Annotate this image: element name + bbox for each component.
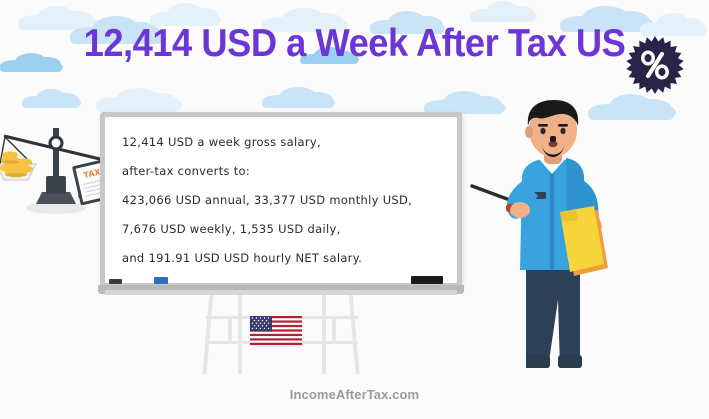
whiteboard-surface: 12,414 USD a week gross salary, after-ta… (105, 117, 457, 283)
percent-badge-icon (626, 36, 684, 94)
cloud-shape (470, 0, 536, 22)
marker-black-icon (109, 279, 122, 284)
board-text-line-5: and 191.91 USD USD hourly NET salary. (122, 251, 362, 265)
stand-brace-left (228, 318, 232, 344)
site-footer-label: IncomeAfterTax.com (0, 387, 709, 402)
board-text-line-3: 423,066 USD annual, 33,377 USD monthly U… (122, 193, 412, 207)
whiteboard-tray-lip (105, 290, 457, 295)
cloud-shape (22, 88, 80, 108)
whiteboard: 12,414 USD a week gross salary, after-ta… (100, 112, 462, 297)
stand-leg-left (238, 292, 242, 374)
whiteboard-frame: 12,414 USD a week gross salary, after-ta… (100, 112, 462, 288)
board-text-line-1: 12,414 USD a week gross salary, (122, 135, 321, 149)
infographic-canvas: 12,414 USD a Week After Tax US (0, 0, 709, 419)
stand-leg-right-outer (348, 292, 359, 374)
teacher-character-illustration (468, 100, 654, 375)
stand-brace-right (332, 318, 336, 344)
board-text-line-4: 7,676 USD weekly, 1,535 USD daily, (122, 222, 341, 236)
stand-leg-left-outer (202, 292, 213, 374)
cloud-shape (262, 86, 334, 108)
marker-blue-icon (154, 277, 168, 284)
balance-scale-icon: TAX (0, 108, 110, 216)
us-flag-icon (250, 316, 302, 345)
eraser-icon (411, 276, 443, 284)
page-title: 12,414 USD a Week After Tax US (25, 22, 684, 66)
stand-leg-right (322, 292, 326, 374)
board-text-line-2: after-tax converts to: (122, 164, 250, 178)
